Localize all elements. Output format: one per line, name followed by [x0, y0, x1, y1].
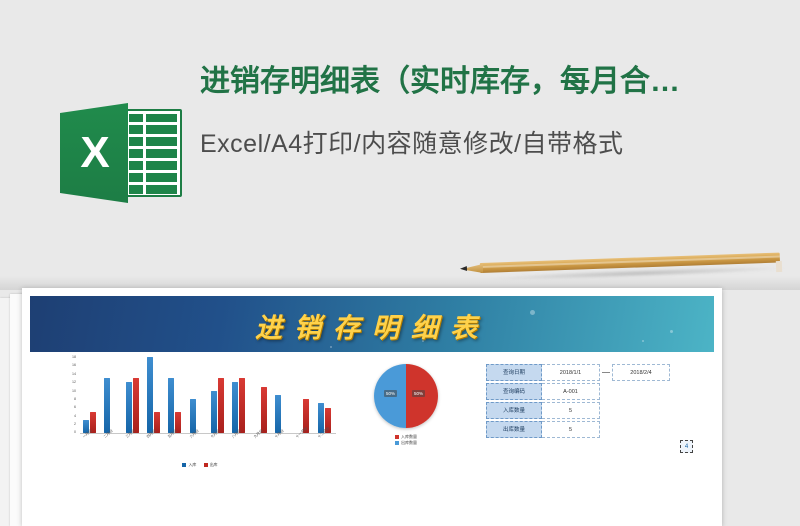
outbound-qty-value: 5	[542, 421, 600, 438]
preview-content-panel: 18 16 14 12 10 8 6 4 2 0 一月份二月份三月份四月	[46, 352, 714, 526]
bar-chart-y-axis: 18 16 14 12 10 8 6 4 2 0	[52, 356, 78, 434]
bar-outbound	[133, 378, 139, 433]
table-row: 查询日期 2018/1/1 2018/2/4	[486, 364, 706, 381]
page-subtitle: Excel/A4打印/内容随意修改/自带格式	[200, 98, 800, 160]
legend-swatch-in-qty	[395, 435, 399, 439]
y-tick: 6	[74, 406, 76, 410]
header-banner: X 进销存明细表（实时库存，每月合… Excel/A4打印/内容随意修改/自带格…	[0, 40, 800, 190]
bar-group	[230, 357, 248, 433]
bar-inbound	[168, 378, 174, 433]
cell-selection-marker[interactable]: 4	[680, 440, 693, 453]
bar-group	[145, 357, 163, 433]
inventory-bar-chart: 18 16 14 12 10 8 6 4 2 0 一月份二月份三月份四月	[52, 356, 342, 474]
query-date-to-value[interactable]: 2018/2/4	[612, 364, 670, 381]
inbound-qty-value: 5	[542, 402, 600, 419]
bar-inbound	[190, 399, 196, 433]
title-block: 进销存明细表（实时库存，每月合… Excel/A4打印/内容随意修改/自带格式	[200, 40, 800, 160]
bar-inbound	[232, 382, 238, 433]
query-date-from-value[interactable]: 2018/1/1	[542, 364, 600, 381]
y-tick: 4	[74, 415, 76, 419]
inventory-pie-chart: 50% 50% 入库数量 出库数量	[346, 360, 466, 472]
pie-chart-legend: 入库数量 出库数量	[346, 434, 466, 447]
bar-outbound	[239, 378, 245, 433]
bar-outbound	[218, 378, 224, 433]
bar-group	[294, 357, 312, 433]
preview-banner-title: 进销存明细表	[30, 306, 714, 345]
preview-banner: 进销存明细表	[30, 296, 714, 352]
bar-group	[252, 357, 270, 433]
query-table: 查询日期 2018/1/1 2018/2/4 查询编码 A-001 入库数量 5	[486, 364, 706, 440]
page-title: 进销存明细表（实时库存，每月合…	[200, 40, 800, 98]
inbound-qty-label: 入库数量	[486, 402, 542, 419]
y-tick: 0	[74, 431, 76, 435]
preview-sheet-inner: 进销存明细表 18 16 14 12 10 8 6	[30, 296, 714, 526]
excel-file-icon: X	[60, 97, 182, 209]
table-row: 出库数量 5	[486, 421, 706, 438]
bar-outbound	[261, 387, 267, 433]
pie-slice-label-out: 50%	[384, 390, 397, 397]
y-tick: 16	[72, 364, 76, 368]
legend-label-out-qty: 出库数量	[401, 440, 417, 445]
bar-group	[102, 357, 120, 433]
y-tick: 2	[74, 423, 76, 427]
legend-swatch-out	[204, 463, 208, 467]
preview-sheet[interactable]: 进销存明细表 18 16 14 12 10 8 6	[22, 288, 722, 526]
bar-group	[316, 357, 334, 433]
query-code-label: 查询编码	[486, 383, 542, 400]
bar-group	[188, 357, 206, 433]
preview-sheet-stack: 进销存明细表 18 16 14 12 10 8 6	[0, 288, 800, 526]
y-tick: 8	[74, 398, 76, 402]
page-root: X 进销存明细表（实时库存，每月合… Excel/A4打印/内容随意修改/自带格…	[0, 0, 800, 526]
bar-inbound	[318, 403, 324, 433]
bar-group	[273, 357, 291, 433]
bar-group	[81, 357, 99, 433]
bar-inbound	[147, 357, 153, 433]
table-row: 入库数量 5	[486, 402, 706, 419]
pie-slice-label-in: 50%	[412, 390, 425, 397]
bar-chart-legend: 入库 出库	[52, 462, 342, 468]
outbound-qty-label: 出库数量	[486, 421, 542, 438]
pencil-end	[776, 261, 782, 272]
date-range-dash-icon	[600, 364, 612, 381]
bar-inbound	[104, 378, 110, 433]
legend-swatch-in	[182, 463, 186, 467]
bar-inbound	[275, 395, 281, 433]
bar-group	[166, 357, 184, 433]
bar-chart-x-labels: 一月份二月份三月份四月份五月份六月份七月份八月份九月份十月份十一月份十二月份	[80, 436, 336, 458]
table-row: 查询编码 A-001	[486, 383, 706, 400]
bar-inbound	[126, 382, 132, 433]
y-tick: 14	[72, 373, 76, 377]
legend-swatch-out-qty	[395, 441, 399, 445]
bar-group	[124, 357, 142, 433]
query-date-label: 查询日期	[486, 364, 542, 381]
bar-inbound	[211, 391, 217, 433]
legend-label-in-qty: 入库数量	[401, 434, 417, 439]
excel-icon-letter: X	[72, 129, 118, 177]
query-code-value[interactable]: A-001	[542, 383, 600, 400]
legend-label-out: 出库	[210, 462, 218, 467]
y-tick: 18	[72, 356, 76, 360]
bar-group	[209, 357, 227, 433]
pencil-lead-icon	[460, 266, 467, 271]
y-tick: 12	[72, 381, 76, 385]
legend-label-in: 入库	[188, 462, 196, 467]
bar-chart-plot-area	[80, 358, 336, 434]
y-tick: 10	[72, 390, 76, 394]
excel-icon-grid	[124, 109, 182, 197]
